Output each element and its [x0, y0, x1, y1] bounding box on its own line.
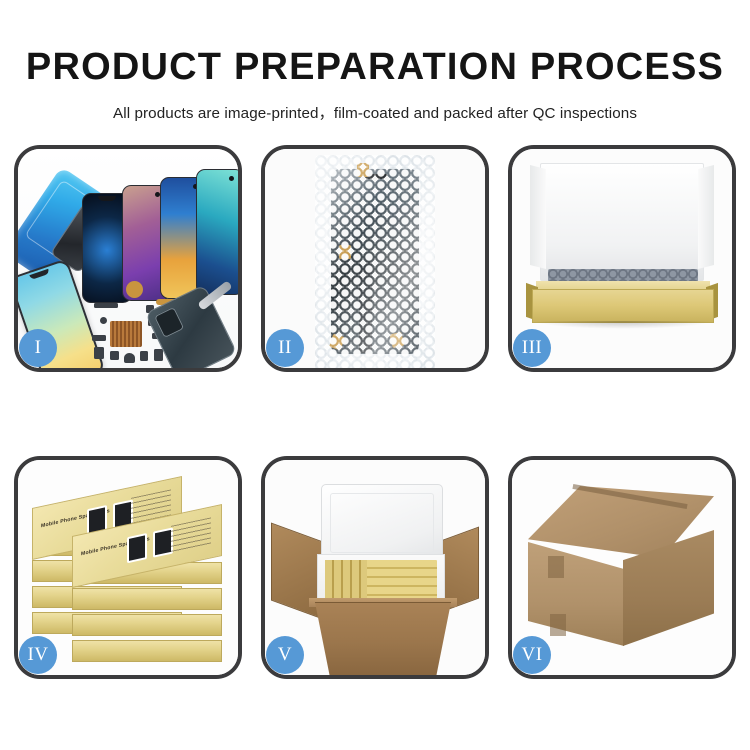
header: PRODUCT PREPARATION PROCESS All products… [0, 0, 750, 123]
page-subtitle: All products are image-printed，film-coat… [0, 86, 750, 123]
packed-yellow-boxes [325, 560, 367, 602]
box-lid-right-flap [698, 165, 714, 269]
step-badge-6: VI [513, 636, 551, 674]
box-lid-back [540, 163, 704, 281]
yellow-box-front [532, 289, 714, 323]
step-badge-5: V [266, 636, 304, 674]
step-panel-4[interactable]: Mobile Phone Spare Parts Mobile Phone Sp… [14, 456, 242, 679]
page-title: PRODUCT PREPARATION PROCESS [0, 0, 750, 86]
step-badge-2: II [266, 329, 304, 367]
process-step-grid: I II [14, 145, 736, 679]
step-panel-2[interactable]: II [261, 145, 489, 372]
foam-lid [321, 484, 443, 562]
box-lid-left-flap [530, 165, 546, 269]
step-panel-5[interactable]: V [261, 456, 489, 679]
step-panel-3[interactable]: III [508, 145, 736, 372]
box-stack: Mobile Phone Spare Parts Mobile Phone Sp… [26, 478, 238, 668]
step-panel-6[interactable]: VI [508, 456, 736, 679]
step-badge-1: I [19, 329, 57, 367]
carton-tape-icon [550, 614, 566, 636]
carton-front [309, 602, 457, 675]
carton-tape-icon [548, 556, 564, 578]
step-badge-3: III [513, 329, 551, 367]
product-preparation-infographic: PRODUCT PREPARATION PROCESS All products… [0, 0, 750, 750]
step-badge-4: IV [19, 636, 57, 674]
step-panel-1[interactable]: I [14, 145, 242, 372]
